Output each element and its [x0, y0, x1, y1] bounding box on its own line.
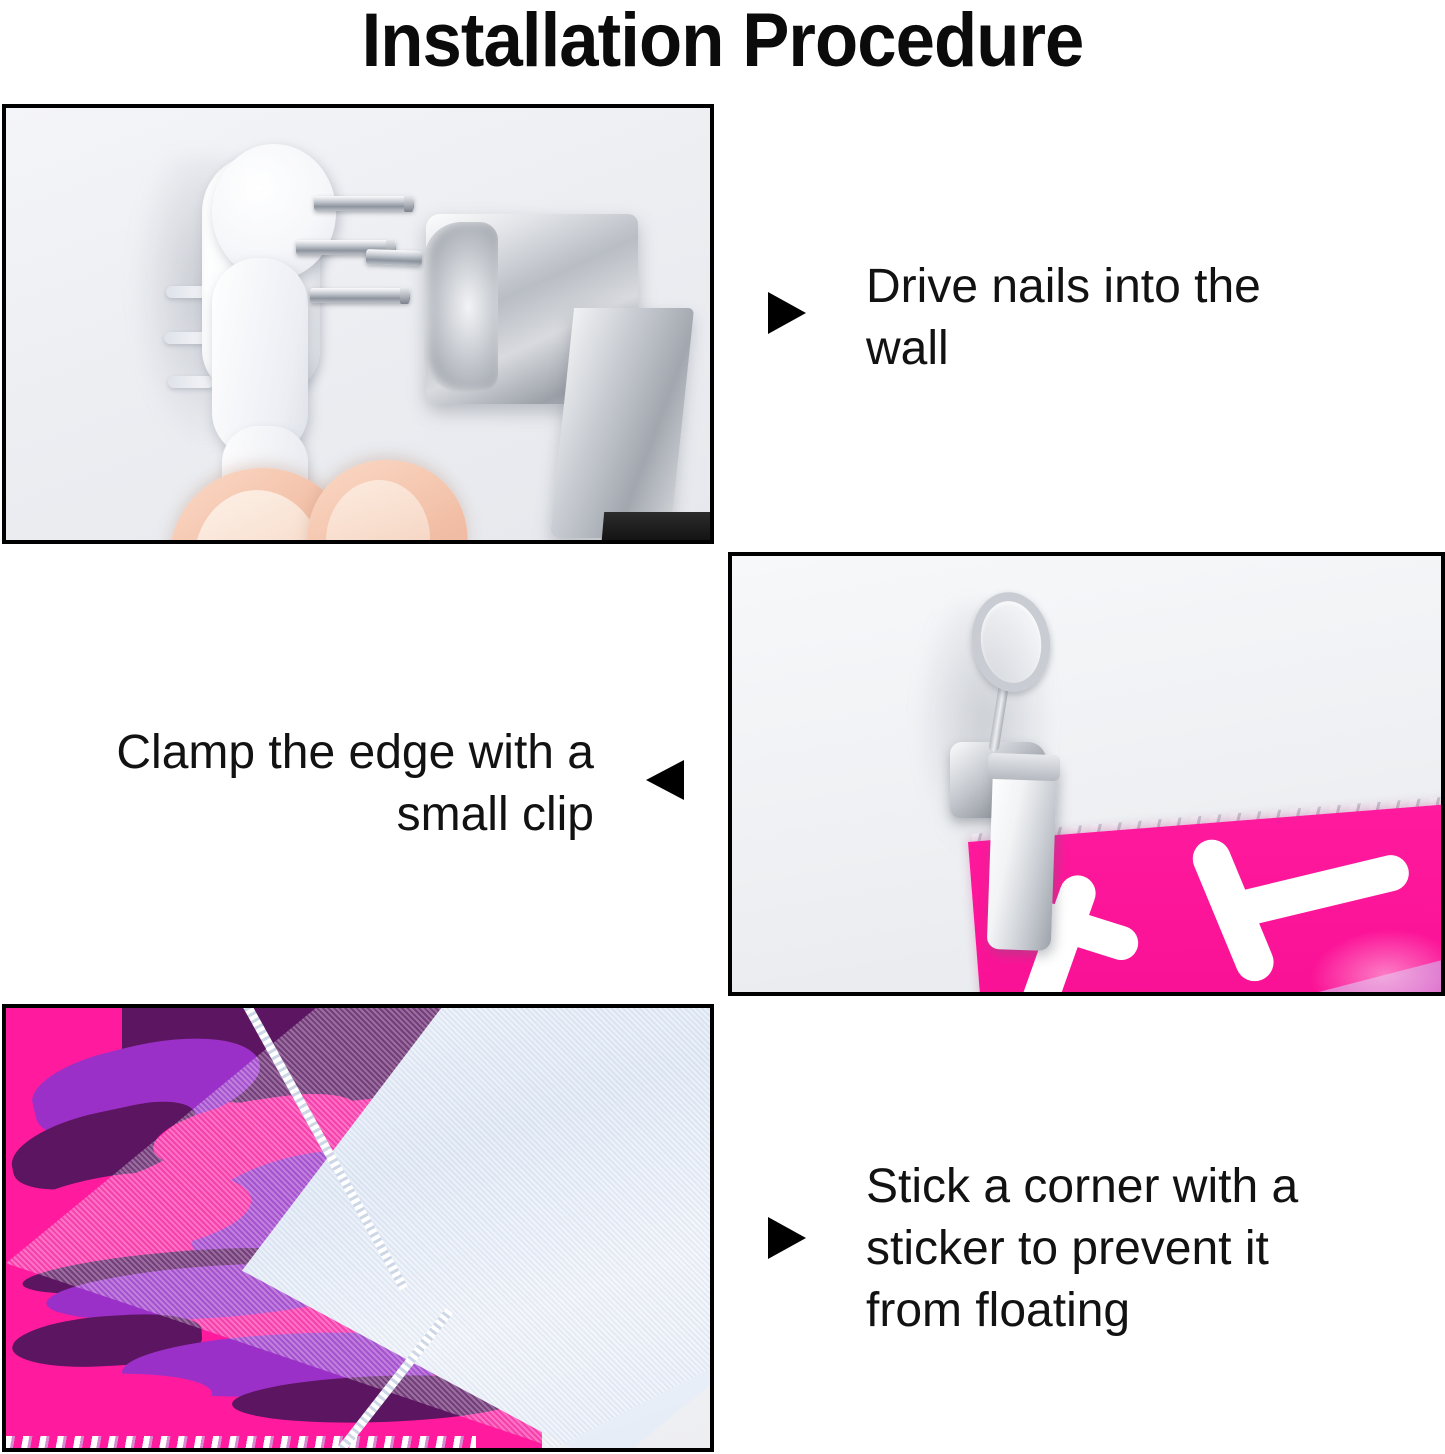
photo-2-inner — [732, 556, 1441, 992]
nail — [310, 288, 410, 303]
sticker-corner-photo — [2, 1004, 714, 1452]
hook-nails-hammer-photo — [2, 104, 714, 544]
triangle-right-icon — [768, 1217, 806, 1259]
hook-rib — [168, 376, 214, 388]
step-3-caption: Stick a corner with a sticker to prevent… — [866, 1156, 1346, 1342]
hammer-face — [424, 222, 498, 392]
hammer-neck — [550, 308, 694, 538]
clip-jaw-lip — [988, 753, 1061, 781]
fabric-gloss-highlight — [1306, 924, 1441, 992]
triangle-right-icon — [768, 292, 806, 334]
tapestry-wave — [6, 1370, 213, 1423]
step-1-caption: Drive nails into the wall — [866, 256, 1266, 380]
photo-3-inner — [6, 1008, 710, 1448]
hammer-ferrule-band — [600, 512, 710, 540]
page-title: Installation Procedure — [51, 0, 1395, 86]
nail — [314, 196, 414, 211]
nail-head — [404, 195, 413, 212]
nail — [366, 249, 422, 266]
tapestry-white-shape — [1223, 851, 1412, 929]
step-2-caption: Clamp the edge with a small clip — [82, 722, 594, 846]
installation-procedure-infographic: Installation Procedure — [0, 0, 1445, 1454]
clip-jaw — [987, 759, 1058, 951]
overlock-stitching-bottom — [6, 1436, 476, 1448]
photo-1-inner — [6, 108, 710, 540]
nail-head — [400, 287, 409, 304]
clip-tapestry-photo — [728, 552, 1445, 996]
triangle-left-icon — [646, 760, 684, 800]
